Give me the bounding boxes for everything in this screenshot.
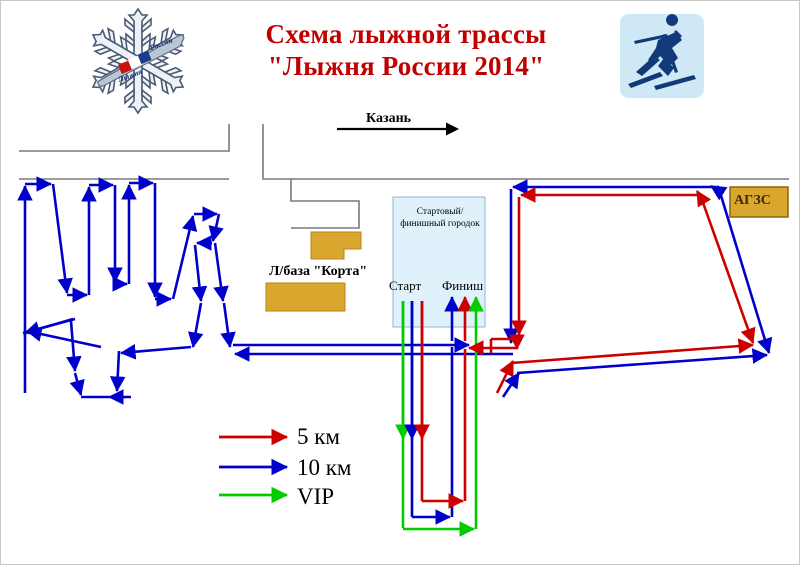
ski-base-label: Л/база "Корта": [269, 264, 367, 280]
route-10km-blue-center: [233, 345, 513, 354]
finish-corridor-up: [452, 297, 476, 529]
agzs-label: АГЗС: [734, 193, 771, 209]
route-5km-red-east: [511, 191, 753, 363]
start-corridor-down: [403, 301, 422, 528]
start-finish-zone-label: Стартовый/ финишный городок: [399, 206, 481, 231]
bottom-turnaround: [403, 501, 474, 529]
legend-label-vip: VIP: [297, 484, 334, 510]
start-label: Старт: [389, 278, 421, 294]
route-diagonal-connectors: [497, 361, 519, 397]
legend-swatches: [219, 437, 287, 495]
ski-trail-map-page: Лыжня России Схема лыжной трассы "Лыжня …: [0, 0, 800, 565]
legend-label-10km: 10 км: [297, 455, 351, 481]
route-10km-blue-west: [23, 183, 230, 397]
legend-label-5km: 5 км: [297, 424, 340, 450]
building-lower: [266, 283, 345, 311]
finish-label: Финиш: [442, 278, 483, 294]
kazan-direction-label: Казань: [366, 111, 411, 127]
building-upper: [311, 232, 361, 259]
